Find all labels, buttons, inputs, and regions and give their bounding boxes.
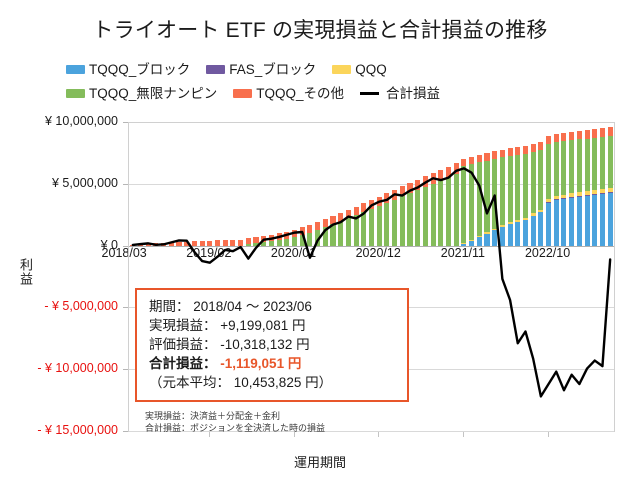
legend-swatch-qqq [332,65,351,74]
info-line-realized: 実現損益： +9,199,081 円 [149,316,397,335]
chart-root: トライオート ETF の実現損益と合計損益の推移 TQQQ_ブロック FAS_ブ… [0,0,640,480]
footnote-block: 実現損益：決済益＋分配金＋金利 合計損益：ポジションを全決済した時の損益 [145,411,425,434]
legend-label-qqq: QQQ [355,63,387,77]
legend-item-goukei-soneki[interactable]: 合計損益 [360,87,440,101]
legend-swatch-tqqq-block [66,65,85,74]
legend-item-tqqq-mugen-nampin[interactable]: TQQQ_無限ナンピン [66,87,217,101]
info-value-realized: +9,199,081 円 [220,318,305,333]
legend-label-fas-block: FAS_ブロック [229,63,316,77]
y-tick-label-4: - ¥ 10,000,000 [0,362,124,375]
legend-item-fas-block[interactable]: FAS_ブロック [206,63,316,77]
legend-label-tqqq-block: TQQQ_ブロック [89,63,190,77]
legend-swatch-tqqq-mugen-nampin [66,89,85,98]
x-axis-title: 運用期間 [0,452,640,471]
legend-label-tqqq-sonota: TQQQ_その他 [256,87,344,101]
legend-item-tqqq-block[interactable]: TQQQ_ブロック [66,63,190,77]
y-tick-label-0: ¥ 10,000,000 [0,115,124,128]
info-value-total: -1,119,051 円 [220,356,301,371]
info-line-principal: （元本平均： 10,453,825 円） [149,373,397,392]
legend-row-2: TQQQ_無限ナンピン TQQQ_その他 合計損益 [66,83,586,104]
legend-row-1: TQQQ_ブロック FAS_ブロック QQQ [66,59,586,80]
info-label-period: 期間： [149,299,190,314]
y-axis-title: 利益 [10,258,32,286]
legend-swatch-fas-block [206,65,225,74]
page-title: トライオート ETF の実現損益と合計損益の推移 [0,14,640,44]
info-value-principal: 10,453,825 円） [234,375,332,390]
legend-item-tqqq-sonota[interactable]: TQQQ_その他 [233,87,344,101]
info-label-total: 合計損益： [149,356,217,371]
info-label-principal: （元本平均： [149,375,230,390]
legend-swatch-tqqq-sonota [233,89,252,98]
summary-info-box: 期間： 2018/04 ～ 2023/06 実現損益： +9,199,081 円… [135,288,409,402]
y-tick-label-5: - ¥ 15,000,000 [0,424,124,437]
legend-label-tqqq-mugen-nampin: TQQQ_無限ナンピン [89,87,217,101]
footnote-line-2: 合計損益：ポジションを全決済した時の損益 [145,423,425,435]
y-tick-label-1: ¥ 5,000,000 [0,177,124,190]
legend-item-qqq[interactable]: QQQ [332,63,387,77]
info-label-valuation: 評価損益： [149,337,217,352]
chart-legend: TQQQ_ブロック FAS_ブロック QQQ TQQQ_無限ナンピン TQQQ_… [66,59,586,104]
info-label-realized: 実現損益： [149,318,217,333]
footnote-line-1: 実現損益：決済益＋分配金＋金利 [145,411,425,423]
info-line-period: 期間： 2018/04 ～ 2023/06 [149,297,397,316]
info-line-valuation: 評価損益： -10,318,132 円 [149,335,397,354]
legend-line-icon-goukei-soneki [360,92,379,95]
info-value-period: 2018/04 ～ 2023/06 [193,299,312,314]
info-line-total: 合計損益： -1,119,051 円 [149,354,397,373]
info-value-valuation: -10,318,132 円 [220,337,309,352]
y-tick-label-3: - ¥ 5,000,000 [0,300,124,313]
legend-label-goukei-soneki: 合計損益 [386,87,440,101]
